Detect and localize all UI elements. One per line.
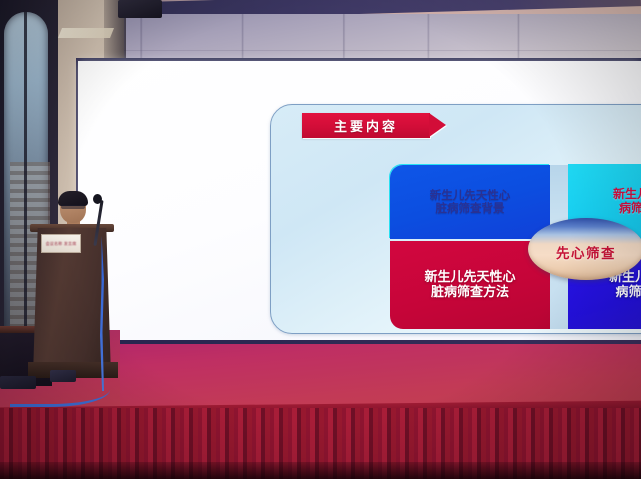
quadrant-bottom-left-label: 新生儿先天性心 脏病筛查方法 [424,270,515,300]
stage-skirt-shadow [0,462,641,479]
podium-sign: 会议名称 发言席 [41,234,81,253]
slide-title-text: 主要内容 [334,116,398,135]
slide-title-banner: 主要内容 [302,113,430,138]
podium-sign-text: 会议名称 发言席 [46,241,77,246]
eyeglasses-icon [61,205,85,209]
quadrant-top-left[interactable]: 新生儿先天性心 脏病筛查背景 [390,165,550,239]
projection-screen: 主要内容 新生儿先天性心 脏病筛查背景 新生儿先天性心脏 病筛查机构规范 新生儿… [78,61,641,344]
floor-equipment-box [0,376,36,389]
center-badge-label: 先心筛查 [556,242,616,262]
wall-light-icon [58,28,114,38]
center-badge: 先心筛查 [528,218,641,280]
door-mullion [24,12,27,342]
quadrant-top-right-label: 新生儿先天性心脏 病筛查机构规范 [613,188,641,216]
banner-arrow-icon [429,113,446,137]
ceiling-speaker-icon [118,0,162,18]
photo-scene: 主要内容 新生儿先天性心 脏病筛查背景 新生儿先天性心脏 病筛查机构规范 新生儿… [0,0,641,479]
floor-junction-box [50,370,76,382]
presentation-slide: 主要内容 新生儿先天性心 脏病筛查背景 新生儿先天性心脏 病筛查机构规范 新生儿… [192,95,641,335]
quadrant-top-left-label: 新生儿先天性心 脏病筛查背景 [430,189,511,216]
presenter-hair [58,191,88,206]
quadrant-bottom-left[interactable]: 新生儿先天性心 脏病筛查方法 [390,241,550,329]
